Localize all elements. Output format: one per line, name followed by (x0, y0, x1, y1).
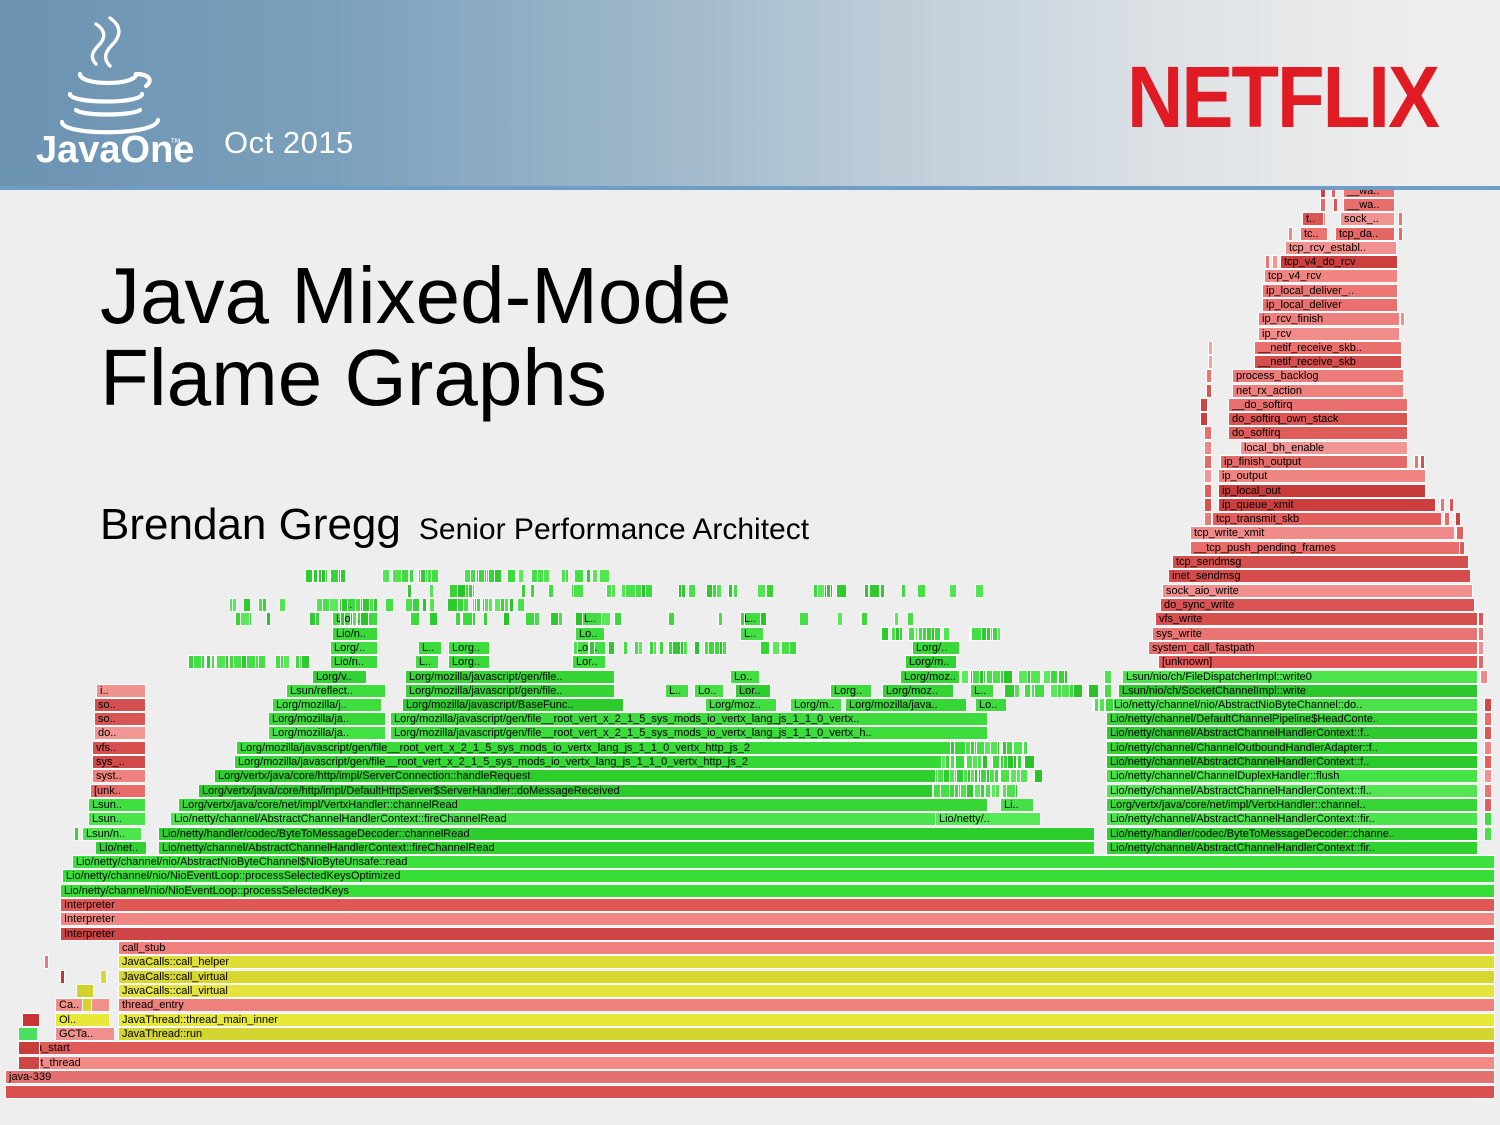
flame-frame[interactable] (1105, 698, 1114, 712)
flame-frame[interactable] (420, 569, 426, 583)
flame-frame[interactable] (385, 598, 394, 612)
flame-frame[interactable] (1208, 341, 1213, 355)
flame-frame[interactable] (760, 641, 770, 655)
flame-frame[interactable] (1456, 526, 1464, 540)
flame-frame[interactable] (586, 569, 591, 583)
flame-frame[interactable]: ip_local_deliver (1262, 298, 1398, 312)
flame-frame[interactable]: __netif_receive_skb (1254, 355, 1402, 369)
flame-frame[interactable]: Lio/netty/handler/codec/ByteToMessageDec… (1106, 827, 1478, 841)
flame-frame[interactable]: do.. (94, 726, 146, 740)
flame-frame[interactable]: Lio/netty/channel/AbstractChannelHandler… (1106, 784, 1478, 798)
flame-frame[interactable]: Lio/netty/channel/AbstractChannelHandler… (1106, 726, 1478, 740)
flame-frame[interactable] (494, 569, 502, 583)
flame-frame[interactable]: __wa.. (1343, 198, 1395, 212)
flame-frame[interactable] (279, 598, 286, 612)
flame-frame[interactable] (573, 584, 584, 598)
flame-frame[interactable]: __netif_receive_skb.. (1254, 341, 1402, 355)
flame-frame[interactable]: Lorg.. (448, 655, 490, 669)
flame-frame[interactable]: Lio/netty/channel/AbstractChannelHandler… (1106, 812, 1478, 826)
flame-frame[interactable] (429, 598, 435, 612)
flame-frame[interactable] (407, 584, 412, 598)
flame-frame[interactable]: t.. (1302, 212, 1324, 226)
flame-frame[interactable] (1333, 198, 1338, 212)
flame-frame[interactable] (817, 584, 825, 598)
flame-frame[interactable] (1003, 755, 1008, 769)
flame-frame[interactable]: Lio/netty/channel/AbstractChannelHandler… (158, 841, 1095, 855)
flame-frame[interactable] (970, 769, 975, 783)
flame-frame[interactable] (462, 612, 473, 626)
flame-frame[interactable] (681, 584, 686, 598)
flame-frame[interactable] (1034, 769, 1043, 783)
flame-frame[interactable] (360, 612, 369, 626)
flame-frame[interactable]: Lio/netty/channel/AbstractChannelHandler… (1106, 755, 1478, 769)
flame-frame[interactable] (1478, 612, 1484, 626)
flame-frame[interactable] (44, 955, 49, 969)
flame-frame[interactable]: Lio/netty/channel/ChannelOutboundHandler… (1106, 741, 1478, 755)
flame-frame[interactable] (1206, 369, 1212, 383)
flame-frame[interactable] (1204, 426, 1212, 440)
flame-frame[interactable] (638, 641, 643, 655)
flame-frame[interactable] (961, 670, 969, 684)
flame-frame[interactable] (683, 641, 688, 655)
flame-frame[interactable] (392, 569, 402, 583)
flame-frame[interactable]: Lorg/mozilla/javascript/gen/file__root_v… (390, 726, 988, 740)
flame-frame[interactable] (799, 612, 809, 626)
flame-frame[interactable] (76, 984, 94, 998)
flame-frame[interactable]: start_thread (18, 1056, 1495, 1070)
flame-frame[interactable]: Interpreter (60, 912, 1495, 926)
flame-frame[interactable]: Lorg/vertx/java/core/net/impl/VertxHandl… (178, 798, 988, 812)
flame-frame[interactable]: JavaCalls::call_virtual (118, 984, 1495, 998)
flame-frame[interactable]: __tcp_push_pending_frames (1190, 541, 1460, 555)
flame-frame[interactable] (412, 598, 420, 612)
flame-frame[interactable] (410, 612, 420, 626)
flame-frame[interactable] (1204, 484, 1212, 498)
flame-frame[interactable] (963, 769, 968, 783)
flame-frame[interactable] (599, 569, 610, 583)
flame-frame[interactable] (766, 584, 774, 598)
flame-frame[interactable] (836, 584, 847, 598)
flame-frame[interactable] (1208, 355, 1213, 369)
flame-frame[interactable]: Lsun/n.. (82, 827, 142, 841)
flame-frame[interactable] (1030, 670, 1041, 684)
flame-frame[interactable] (429, 612, 438, 626)
flame-frame[interactable]: Lor.. (735, 684, 771, 698)
flame-frame[interactable] (645, 584, 653, 598)
flame-frame[interactable] (1420, 455, 1425, 469)
flame-frame[interactable] (240, 612, 250, 626)
flame-frame[interactable] (869, 584, 880, 598)
flame-frame[interactable]: ip_rcv_finish (1258, 312, 1400, 326)
flame-frame[interactable] (340, 569, 346, 583)
flame-frame[interactable]: __do_softirq (1228, 398, 1408, 412)
flame-frame[interactable]: Lo.. (975, 698, 1007, 712)
flame-frame[interactable] (943, 627, 950, 641)
flame-frame[interactable]: Lorg/mozilla/javascript/gen/file.. (405, 684, 615, 698)
flame-frame[interactable] (517, 598, 525, 612)
flame-frame[interactable]: Lio/n.. (332, 627, 378, 641)
flame-frame[interactable] (488, 569, 495, 583)
flame-frame[interactable] (918, 627, 923, 641)
flame-frame[interactable]: Lio/netty/channel/AbstractChannelHandler… (1106, 841, 1478, 855)
flame-frame[interactable]: do_sync_write (1160, 598, 1475, 612)
flame-frame[interactable] (321, 569, 326, 583)
flame-frame[interactable] (548, 584, 554, 598)
flame-frame[interactable]: java_start (18, 1041, 1495, 1055)
flame-frame[interactable] (295, 655, 300, 669)
flame-frame[interactable] (592, 569, 598, 583)
flame-frame[interactable] (1023, 741, 1028, 755)
flame-frame[interactable] (608, 641, 615, 655)
flame-frame[interactable] (1484, 784, 1492, 798)
flame-frame[interactable] (550, 612, 559, 626)
flame-frame[interactable]: Lorg/mozilla/javascript/BaseFunc.. (402, 698, 624, 712)
flame-frame[interactable] (246, 655, 256, 669)
flame-frame[interactable]: Lorg/moz.. (900, 670, 960, 684)
flame-frame[interactable] (1206, 384, 1212, 398)
flame-frame[interactable]: Lo.. (575, 627, 605, 641)
flame-frame[interactable] (1484, 755, 1492, 769)
flame-frame[interactable]: vfs.. (92, 741, 146, 755)
flame-frame[interactable] (781, 641, 790, 655)
flame-frame[interactable]: Lo.. (694, 684, 724, 698)
flame-frame[interactable] (525, 612, 535, 626)
flame-frame[interactable] (340, 612, 345, 626)
flame-frame[interactable] (837, 612, 843, 626)
flame-frame[interactable] (18, 1041, 40, 1055)
flame-frame[interactable] (258, 655, 266, 669)
flame-frame[interactable] (907, 612, 914, 626)
flame-frame[interactable] (733, 584, 738, 598)
flame-frame[interactable]: system_call_fastpath (1148, 641, 1478, 655)
flame-frame[interactable]: Lio/netty/channel/AbstractChannelHandler… (170, 812, 1028, 826)
flame-frame[interactable]: Lorg/vertx/java/core/http/impl/DefaultHt… (198, 784, 988, 798)
flame-frame[interactable]: Lio/netty/handler/codec/ByteToMessageDec… (158, 827, 1095, 841)
flame-frame[interactable] (718, 612, 723, 626)
flame-frame[interactable] (1478, 655, 1484, 669)
flame-frame[interactable]: sys_.. (92, 755, 146, 769)
flame-frame[interactable] (537, 569, 544, 583)
flame-frame[interactable] (1478, 641, 1484, 655)
flame-frame[interactable]: sock_.. (1340, 212, 1395, 226)
flame-frame[interactable]: Ol.. (55, 1013, 110, 1027)
flame-frame[interactable] (881, 627, 889, 641)
flame-frame[interactable]: ip_rcv (1258, 327, 1400, 341)
flame-frame[interactable] (518, 569, 524, 583)
flame-frame[interactable] (429, 584, 434, 598)
flame-frame[interactable]: Lio/netty/channel/nio/AbstractNioByteCha… (72, 855, 1495, 869)
flame-frame[interactable] (301, 655, 310, 669)
flame-frame[interactable]: ip_local_deliver_.. (1262, 284, 1398, 298)
flame-frame[interactable] (1265, 255, 1270, 269)
flame-frame[interactable] (573, 641, 578, 655)
flame-frame[interactable]: L.. (970, 684, 994, 698)
flame-frame[interactable]: inet_sendmsg (1168, 569, 1471, 583)
flame-frame[interactable] (1478, 627, 1484, 641)
flame-frame[interactable] (1484, 769, 1492, 783)
flame-frame[interactable]: JavaThread::run (118, 1027, 1495, 1041)
flame-frame[interactable] (980, 769, 987, 783)
flame-frame[interactable] (18, 1027, 38, 1041)
flame-frame[interactable] (316, 598, 323, 612)
flame-frame[interactable] (1204, 498, 1212, 512)
flame-frame[interactable] (1043, 670, 1051, 684)
flame-frame[interactable]: local_bh_enable (1240, 441, 1408, 455)
flame-frame[interactable]: JavaThread::thread_main_inner (118, 1013, 1495, 1027)
flame-frame[interactable] (1398, 212, 1403, 226)
flame-frame[interactable] (1000, 769, 1010, 783)
flame-frame[interactable] (509, 598, 514, 612)
flame-frame[interactable] (1006, 784, 1016, 798)
flame-frame[interactable] (22, 1013, 40, 1027)
flame-frame[interactable] (74, 827, 79, 841)
flame-frame[interactable] (463, 598, 469, 612)
flame-frame[interactable] (704, 641, 709, 655)
flame-frame[interactable] (60, 970, 65, 984)
flame-frame[interactable]: Lorg/mozilla/ja.. (268, 712, 386, 726)
flame-frame[interactable]: i.. (96, 684, 146, 698)
flame-frame[interactable]: Lorg/mozilla/j.. (272, 698, 382, 712)
flame-frame[interactable] (503, 612, 510, 626)
flame-frame[interactable] (611, 584, 616, 598)
flame-frame[interactable] (625, 584, 636, 598)
flame-frame[interactable] (447, 598, 458, 612)
flame-frame[interactable] (329, 598, 339, 612)
flame-frame[interactable] (949, 769, 955, 783)
flame-frame[interactable]: syst.. (92, 769, 146, 783)
flame-frame[interactable] (266, 612, 271, 626)
flame-frame[interactable]: tcp_v4_rcv (1264, 269, 1398, 283)
flame-frame[interactable] (1444, 512, 1450, 526)
flame-frame[interactable] (1484, 726, 1492, 740)
flame-frame[interactable] (1006, 741, 1013, 755)
flame-frame[interactable]: Lsun/reflect.. (286, 684, 386, 698)
flame-frame[interactable] (589, 641, 595, 655)
flame-frame[interactable]: Lsun/nio/ch/FileDispatcherImpl::write0 (1122, 670, 1478, 684)
flame-frame[interactable] (531, 569, 538, 583)
flame-frame[interactable]: Lio/netty/channel/nio/NioEventLoop::proc… (60, 884, 1495, 898)
flame-frame[interactable] (901, 584, 906, 598)
flame-frame[interactable] (992, 755, 1000, 769)
flame-frame[interactable]: ip_output (1218, 469, 1426, 483)
flame-frame[interactable]: JavaCalls::call_virtual (118, 970, 1495, 984)
flame-frame[interactable] (772, 641, 780, 655)
flame-frame[interactable]: call_stub (118, 941, 1495, 955)
flame-frame[interactable] (908, 627, 915, 641)
flame-frame[interactable] (1200, 398, 1208, 412)
flame-frame[interactable]: tcp_rcv_establ.. (1285, 241, 1397, 255)
flame-frame[interactable]: L.. (740, 627, 764, 641)
flame-frame[interactable]: Lorg/vertx/java/core/net/impl/VertxHandl… (1106, 798, 1478, 812)
flame-frame[interactable] (216, 655, 226, 669)
flame-frame[interactable]: Lsun.. (88, 812, 146, 826)
flame-frame[interactable] (431, 569, 439, 583)
flame-frame[interactable] (955, 755, 965, 769)
flame-frame[interactable] (1200, 412, 1208, 426)
flame-frame[interactable]: Lio/netty/.. (935, 812, 1041, 826)
flame-frame[interactable]: so.. (94, 712, 146, 726)
flame-frame[interactable]: Lorg/mozilla/java.. (845, 698, 967, 712)
flame-frame[interactable] (193, 655, 202, 669)
flame-frame[interactable] (1288, 227, 1293, 241)
flame-frame[interactable] (232, 598, 237, 612)
flame-frame[interactable] (757, 584, 766, 598)
flame-frame[interactable] (990, 741, 998, 755)
flame-frame[interactable] (530, 584, 535, 598)
flame-frame[interactable] (688, 584, 696, 598)
flame-frame[interactable] (484, 598, 489, 612)
flame-frame[interactable]: so.. (94, 698, 146, 712)
flame-frame[interactable] (1104, 684, 1112, 698)
flame-frame[interactable] (313, 569, 318, 583)
flame-frame[interactable]: Lor.. (572, 655, 606, 669)
flame-frame[interactable]: GCTa.. (55, 1027, 115, 1041)
flame-frame[interactable]: Lorg/v.. (312, 670, 367, 684)
flame-frame[interactable] (1024, 755, 1035, 769)
flame-frame[interactable] (341, 598, 348, 612)
flame-frame[interactable] (991, 784, 996, 798)
flame-frame[interactable] (483, 612, 488, 626)
flame-frame[interactable]: Lorg/m.. (905, 655, 957, 669)
flame-frame[interactable] (575, 612, 583, 626)
flame-frame[interactable]: Lio/netty/channel/DefaultChannelPipeline… (1106, 712, 1478, 726)
flame-frame[interactable]: Lorg/mozilla/javascript/gen/file.. (405, 670, 615, 684)
flame-frame[interactable] (561, 569, 566, 583)
flame-frame[interactable] (1018, 670, 1028, 684)
flame-frame[interactable] (649, 641, 654, 655)
flame-frame[interactable]: sock_aio_write (1162, 584, 1473, 598)
flame-frame[interactable] (941, 755, 946, 769)
flame-frame[interactable]: Lorg/.. (330, 641, 378, 655)
flame-frame[interactable] (1455, 512, 1461, 526)
flame-frame[interactable] (986, 627, 991, 641)
flame-frame[interactable] (1484, 798, 1492, 812)
flame-frame[interactable]: Lorg/moz.. (705, 698, 777, 712)
flame-frame[interactable] (275, 655, 281, 669)
flame-frame[interactable] (478, 569, 485, 583)
flame-frame[interactable]: tcp_v4_do_rcv (1280, 255, 1398, 269)
flame-frame[interactable]: tcp_da.. (1335, 227, 1395, 241)
flame-frame[interactable]: ip_queue_xmit (1218, 498, 1436, 512)
flame-frame[interactable]: Interpreter (60, 927, 1495, 941)
flame-frame[interactable]: Lo.. (730, 670, 760, 684)
flame-frame[interactable]: Lorg/mozilla/javascript/gen/file__root_v… (234, 755, 988, 769)
flame-frame[interactable]: Lorg/m.. (790, 698, 842, 712)
flame-frame[interactable] (1094, 698, 1099, 712)
flame-frame[interactable]: do_softirq_own_stack (1228, 412, 1408, 426)
flame-frame[interactable] (449, 584, 458, 598)
flame-frame[interactable]: tcp_sendmsg (1172, 555, 1469, 569)
flame-frame[interactable]: Lio/netty/channel/nio/AbstractNioByteCha… (1110, 698, 1478, 712)
flame-frame[interactable]: Lorg/mozilla/javascript/gen/file__root_v… (390, 712, 988, 726)
flame-frame[interactable]: Lorg/mozilla/javascript/gen/file__root_v… (236, 741, 988, 755)
flame-frame[interactable]: Lorg/.. (912, 641, 960, 655)
flame-frame[interactable] (694, 641, 700, 655)
flame-frame[interactable]: Lorg/vertx/java/core/http/impl/ServerCon… (214, 769, 988, 783)
flame-frame[interactable] (895, 627, 900, 641)
flame-frame[interactable]: tcp_write_xmit (1190, 526, 1455, 540)
flame-frame[interactable] (355, 598, 361, 612)
flame-frame[interactable] (476, 598, 481, 612)
flame-frame[interactable]: thread_entry (118, 998, 1495, 1012)
flame-frame[interactable]: JavaCalls::call_helper (118, 955, 1495, 969)
flame-frame[interactable] (986, 670, 993, 684)
flame-frame[interactable]: Lsun/nio/ch/SocketChannelImpl::write (1118, 684, 1478, 698)
flame-frame[interactable] (521, 584, 526, 598)
flame-frame[interactable]: Lio/netty/channel/ChannelDuplexHandler::… (1106, 769, 1478, 783)
flame-frame[interactable] (1440, 498, 1445, 512)
flame-frame[interactable]: Lio/net.. (95, 841, 147, 855)
flame-frame[interactable] (614, 612, 622, 626)
flame-frame[interactable]: [unknown] (1158, 655, 1478, 669)
flame-frame[interactable] (966, 755, 973, 769)
flame-frame[interactable] (82, 998, 92, 1012)
flame-frame[interactable] (1104, 670, 1112, 684)
flame-frame[interactable] (994, 769, 999, 783)
flame-frame[interactable] (740, 612, 745, 626)
flame-frame[interactable] (659, 641, 664, 655)
flame-frame[interactable]: ip_finish_output (1220, 455, 1408, 469)
flame-frame[interactable] (1320, 198, 1326, 212)
flame-frame[interactable] (1034, 684, 1045, 698)
flame-frame[interactable] (206, 655, 211, 669)
flame-frame[interactable] (262, 598, 267, 612)
flame-frame[interactable] (1272, 255, 1278, 269)
flame-frame[interactable] (933, 784, 941, 798)
flame-frame[interactable] (1480, 670, 1488, 684)
flame-frame[interactable]: java-339 (5, 1070, 1495, 1084)
flame-frame[interactable] (1484, 712, 1492, 726)
flame-frame[interactable] (950, 741, 955, 755)
flame-frame[interactable] (1484, 698, 1492, 712)
flame-frame[interactable] (760, 612, 767, 626)
flame-frame[interactable] (1204, 512, 1212, 526)
flame-frame[interactable] (1016, 769, 1021, 783)
flame-frame[interactable]: Lorg.. (448, 641, 490, 655)
flame-frame[interactable] (315, 612, 320, 626)
flame-frame[interactable] (574, 569, 584, 583)
flame-frame[interactable]: sys_write (1152, 627, 1478, 641)
flame-frame[interactable] (229, 655, 234, 669)
flame-frame[interactable] (826, 584, 831, 598)
flame-frame[interactable]: net_rx_action (1232, 384, 1404, 398)
flame-frame[interactable] (1061, 684, 1070, 698)
flame-frame[interactable] (971, 627, 982, 641)
flame-frame[interactable]: Lio/netty/channel/nio/NioEventLoop::proc… (62, 869, 1495, 883)
flame-frame[interactable] (305, 569, 313, 583)
flame-frame[interactable] (1204, 455, 1212, 469)
flame-frame[interactable] (972, 670, 980, 684)
flame-frame[interactable]: tcp_transmit_skb (1212, 512, 1442, 526)
flame-frame[interactable] (1484, 827, 1492, 841)
flame-frame[interactable] (369, 598, 374, 612)
flame-frame[interactable] (1414, 455, 1419, 469)
flame-frame[interactable] (1088, 684, 1099, 698)
flame-frame[interactable] (1004, 684, 1015, 698)
flame-frame[interactable] (949, 584, 957, 598)
flame-frame[interactable]: [unk.. (90, 784, 146, 798)
flame-frame[interactable] (330, 569, 339, 583)
flame-frame[interactable] (1484, 741, 1492, 755)
flame-frame[interactable] (1204, 469, 1212, 483)
flame-frame[interactable]: tc.. (1300, 227, 1328, 241)
flame-frame[interactable] (894, 612, 899, 626)
flame-frame[interactable] (728, 584, 733, 598)
flame-frame[interactable] (1204, 441, 1212, 455)
flame-frame[interactable] (5, 1085, 1495, 1099)
flame-frame[interactable] (1003, 670, 1013, 684)
flame-frame[interactable] (1398, 227, 1403, 241)
